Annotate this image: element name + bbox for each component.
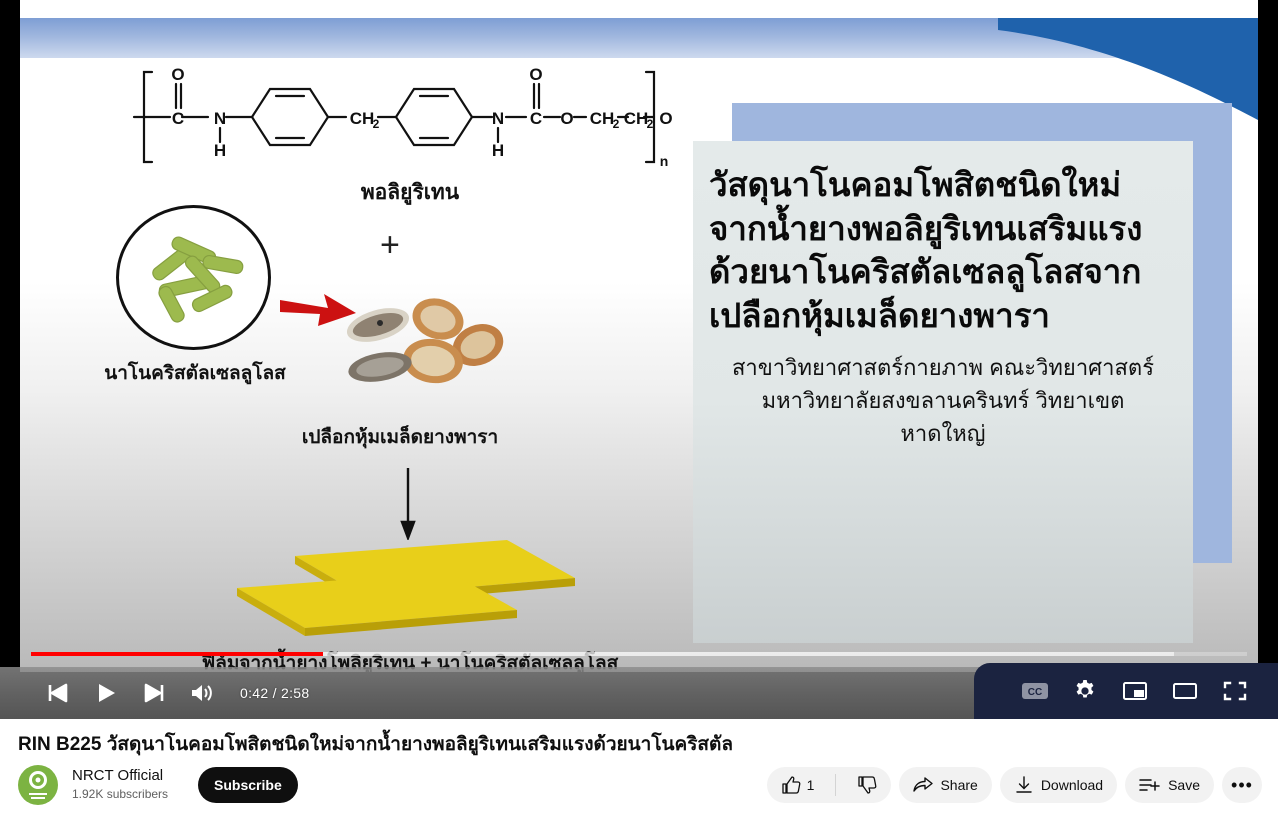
svg-text:CH: CH <box>350 109 375 128</box>
player-controls-bar[interactable]: 0:42 / 2:58 CC <box>0 667 1278 719</box>
polyurethane-label: พอลิยูริเทน <box>130 176 690 209</box>
rubber-seed-shells-image <box>338 295 508 391</box>
svg-text:H: H <box>492 141 504 160</box>
svg-text:CH: CH <box>590 109 615 128</box>
dislike-button[interactable] <box>843 767 891 803</box>
video-stage[interactable]: O C N H CH 2 N H O C O CH 2 CH 2 O n พอล… <box>20 0 1258 672</box>
svg-text:O: O <box>659 109 672 128</box>
channel-info[interactable]: NRCT Official 1.92K subscribers <box>72 767 168 803</box>
miniplayer-icon <box>1122 680 1148 702</box>
shell-label: เปลือกหุ้มเมล็ดยางพารา <box>245 422 555 452</box>
svg-text:O: O <box>171 65 184 84</box>
save-to-playlist-icon <box>1139 775 1161 795</box>
svg-text:C: C <box>172 109 184 128</box>
thumbs-up-icon <box>781 775 801 795</box>
player-controls-left: 0:42 / 2:58 <box>34 667 309 719</box>
miniplayer-button[interactable] <box>1112 668 1158 714</box>
svg-text:2: 2 <box>373 117 380 131</box>
cc-icon: CC <box>1021 681 1049 701</box>
plus-symbol: + <box>380 226 400 265</box>
previous-icon <box>47 682 69 704</box>
slide-title-line-2: จากน้ำยางพอลิยูริเทนเสริมแรง <box>709 207 1177 251</box>
play-button[interactable] <box>82 669 130 717</box>
video-player[interactable]: O C N H CH 2 N H O C O CH 2 CH 2 O n พอล… <box>0 0 1278 719</box>
share-label: Share <box>940 777 977 793</box>
download-icon <box>1014 775 1034 795</box>
gear-icon <box>1073 679 1097 703</box>
nanocrystal-label: นาโนคริสตัลเซลลูโลส <box>80 358 310 388</box>
video-meta-row: NRCT Official 1.92K subscribers Subscrib… <box>18 762 1262 808</box>
svg-text:n: n <box>660 153 669 169</box>
slide-text-panel: วัสดุนาโนคอมโพสิตชนิดใหม่ จากน้ำยางพอลิย… <box>693 141 1193 643</box>
affiliation-line-3: หาดใหญ่ <box>709 417 1177 450</box>
slide-title-line-4: เปลือกหุ้มเมล็ดยางพารา <box>709 294 1177 338</box>
svg-text:H: H <box>214 141 226 160</box>
svg-text:CH: CH <box>624 109 649 128</box>
affiliation-line-1: สาขาวิทยาศาสตร์กายภาพ คณะวิทยาศาสตร์ <box>709 351 1177 384</box>
captions-button[interactable]: CC <box>1012 668 1058 714</box>
slide-affiliation: สาขาวิทยาศาสตร์กายภาพ คณะวิทยาศาสตร์ มหา… <box>709 351 1177 450</box>
next-button[interactable] <box>130 669 178 717</box>
svg-text:O: O <box>560 109 573 128</box>
svg-text:2: 2 <box>647 117 654 131</box>
fullscreen-icon <box>1223 680 1247 702</box>
svg-text:N: N <box>214 109 226 128</box>
video-title: RIN B225 วัสดุนาโนคอมโพสิตชนิดใหม่จากน้ำ… <box>18 729 1218 759</box>
action-buttons: 1 Share Download <box>767 767 1262 803</box>
settings-button[interactable] <box>1062 668 1108 714</box>
svg-text:N: N <box>492 109 504 128</box>
nrct-logo-icon <box>18 765 58 805</box>
thumbs-down-icon <box>857 775 877 795</box>
nanocrystal-circle <box>116 205 271 350</box>
volume-button[interactable] <box>178 669 226 717</box>
subscriber-count: 1.92K subscribers <box>72 786 168 803</box>
theater-button[interactable] <box>1162 668 1208 714</box>
save-label: Save <box>1168 777 1200 793</box>
svg-text:2: 2 <box>613 117 620 131</box>
like-count: 1 <box>807 777 815 793</box>
svg-text:O: O <box>529 65 542 84</box>
save-button[interactable]: Save <box>1125 767 1214 803</box>
subscribe-button[interactable]: Subscribe <box>198 767 298 803</box>
channel-name[interactable]: NRCT Official <box>72 767 168 786</box>
download-label: Download <box>1041 777 1103 793</box>
theater-icon <box>1172 680 1198 702</box>
svg-text:CC: CC <box>1028 687 1042 698</box>
svg-text:C: C <box>530 109 542 128</box>
download-button[interactable]: Download <box>1000 767 1117 803</box>
slide-title-line-1: วัสดุนาโนคอมโพสิตชนิดใหม่ <box>709 163 1177 207</box>
affiliation-line-2: มหาวิทยาลัยสงขลานครินทร์ วิทยาเขต <box>709 384 1177 417</box>
fullscreen-button[interactable] <box>1212 668 1258 714</box>
channel-avatar[interactable] <box>18 765 58 805</box>
share-button[interactable]: Share <box>899 767 991 803</box>
slide-title-line-3: ด้วยนาโนคริสตัลเซลลูโลสจาก <box>709 250 1177 294</box>
cellulose-nanocrystal-icon <box>119 208 274 353</box>
progress-track[interactable] <box>31 652 1247 656</box>
share-icon <box>913 775 933 795</box>
volume-icon <box>190 682 214 704</box>
like-button[interactable]: 1 <box>767 767 829 803</box>
more-actions-button[interactable]: ••• <box>1222 767 1262 803</box>
play-icon <box>95 682 117 704</box>
previous-button[interactable] <box>34 669 82 717</box>
player-controls-right: CC <box>974 663 1278 719</box>
time-display: 0:42 / 2:58 <box>240 685 309 701</box>
action-divider <box>835 774 836 796</box>
like-dislike-group: 1 <box>767 767 892 803</box>
next-icon <box>143 682 165 704</box>
progress-played <box>31 652 323 656</box>
polyurethane-structure-icon: O C N H CH 2 N H O C O CH 2 CH 2 O n <box>130 58 690 176</box>
polyurethane-film-illustration <box>215 530 595 640</box>
